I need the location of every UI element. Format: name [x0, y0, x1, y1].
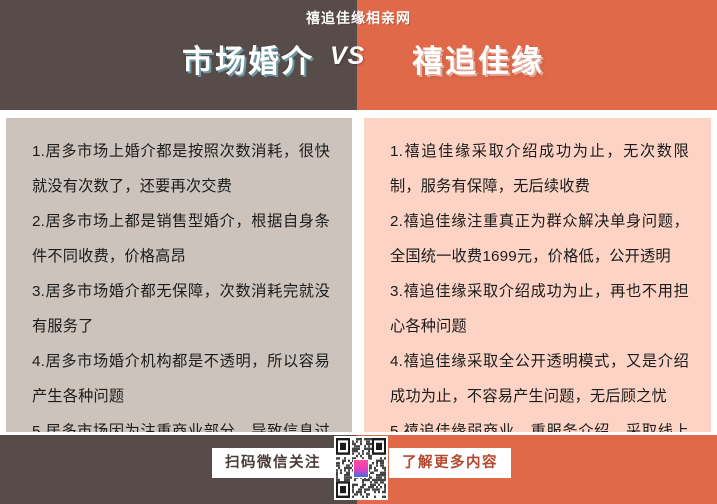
headline-left-label: 市场婚介: [182, 36, 314, 81]
list-item: 1.居多市场上婚介都是按照次数消耗，很快就没有次数了，还要再次交费: [32, 134, 330, 204]
header-banner: 禧追佳缘相亲网 市场婚介 VS 禧追佳缘: [0, 0, 717, 110]
comparison-body: 1.居多市场上婚介都是按照次数消耗，很快就没有次数了，还要再次交费 2.居多市场…: [0, 110, 717, 435]
list-item: 5.禧追佳缘弱商业，重服务介绍，采取线上免费模式，所以单身资源多，有合适的免费都…: [390, 414, 689, 432]
list-item: 3.禧追佳缘采取介绍成功为止，再也不用担心各种问题: [390, 274, 689, 344]
list-item: 2.禧追佳缘注重真正为群众解决单身问题，全国统一收费1699元，价格低，公开透明: [390, 204, 689, 274]
market-agency-card: 1.居多市场上婚介都是按照次数消耗，很快就没有次数了，还要再次交费 2.居多市场…: [6, 118, 352, 432]
headline-right-label: 禧追佳缘: [412, 36, 544, 81]
wechat-qr-code[interactable]: [334, 436, 388, 500]
list-item: 5.居多市场因为注重商业部分，导致信息过少，匹配不上，出现没有合适的或者婚托等现…: [32, 414, 330, 432]
scan-wechat-label: 扫码微信关注: [212, 448, 334, 478]
list-item: 2.居多市场上都是销售型婚介，根据自身条件不同收费，价格高昂: [32, 204, 330, 274]
list-item: 1.禧追佳缘采取介绍成功为止，无次数限制，服务有保障，无后续收费: [390, 134, 689, 204]
versus-label: VS: [330, 42, 365, 71]
learn-more-label: 了解更多内容: [389, 448, 511, 478]
promo-comparison-image: 禧追佳缘相亲网 市场婚介 VS 禧追佳缘 1.居多市场上婚介都是按照次数消耗，很…: [0, 0, 717, 504]
xizhui-jiayuan-card: 1.禧追佳缘采取介绍成功为止，无次数限制，服务有保障，无后续收费 2.禧追佳缘注…: [364, 118, 711, 432]
list-item: 3.居多市场婚介都无保障，次数消耗完就没有服务了: [32, 274, 330, 344]
site-title: 禧追佳缘相亲网: [0, 8, 717, 28]
list-item: 4.居多市场婚介机构都是不透明，所以容易产生各种问题: [32, 344, 330, 414]
headline-row: 市场婚介 VS 禧追佳缘: [0, 36, 717, 84]
list-item: 4.禧追佳缘采取全公开透明模式，又是介绍成功为止，不容易产生问题，无后顾之忧: [390, 344, 689, 414]
qr-code-icon: [336, 438, 386, 498]
